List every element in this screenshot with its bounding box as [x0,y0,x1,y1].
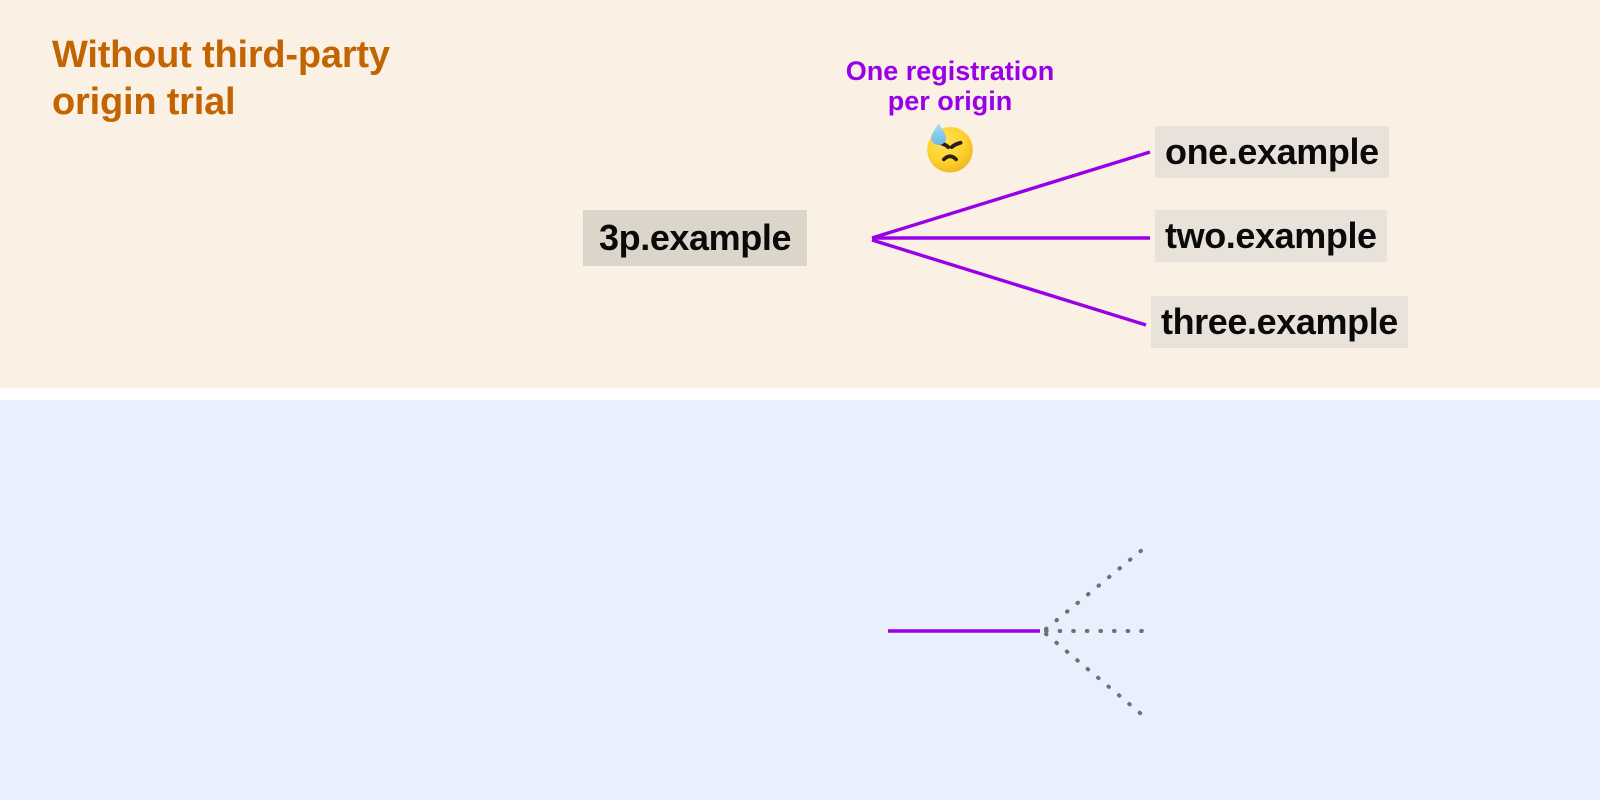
node-label: two.example [1165,215,1377,257]
panel-with-origin-trial: With third-party origin trial One regist… [0,400,1600,800]
connector-lines-with [0,400,1600,800]
node-leaf-three-example[interactable]: three.example [1151,296,1408,348]
panel-without-origin-trial: Without third-party origin trial One reg… [0,0,1600,388]
connector-dotted-to-one [1046,545,1148,629]
annotation-without: One registration per origin [795,56,1105,176]
node-label: one.example [1165,131,1379,173]
node-label: three.example [1161,301,1398,343]
node-leaf-two-example[interactable]: two.example [1155,210,1387,262]
annotation-without-text: One registration per origin [795,56,1105,116]
connector-dotted-to-three [1046,634,1146,718]
node-root-3p-example[interactable]: 3p.example [583,210,807,266]
diagram-canvas: Without third-party origin trial One reg… [0,0,1600,800]
node-leaf-one-example[interactable]: one.example [1155,126,1389,178]
panel-without-title: Without third-party origin trial [52,32,390,126]
downcast-face-with-sweat-emoji [922,120,978,176]
connector-line-to-three [872,240,1146,325]
node-label: 3p.example [599,217,791,259]
connector-line-to-one [872,152,1150,238]
